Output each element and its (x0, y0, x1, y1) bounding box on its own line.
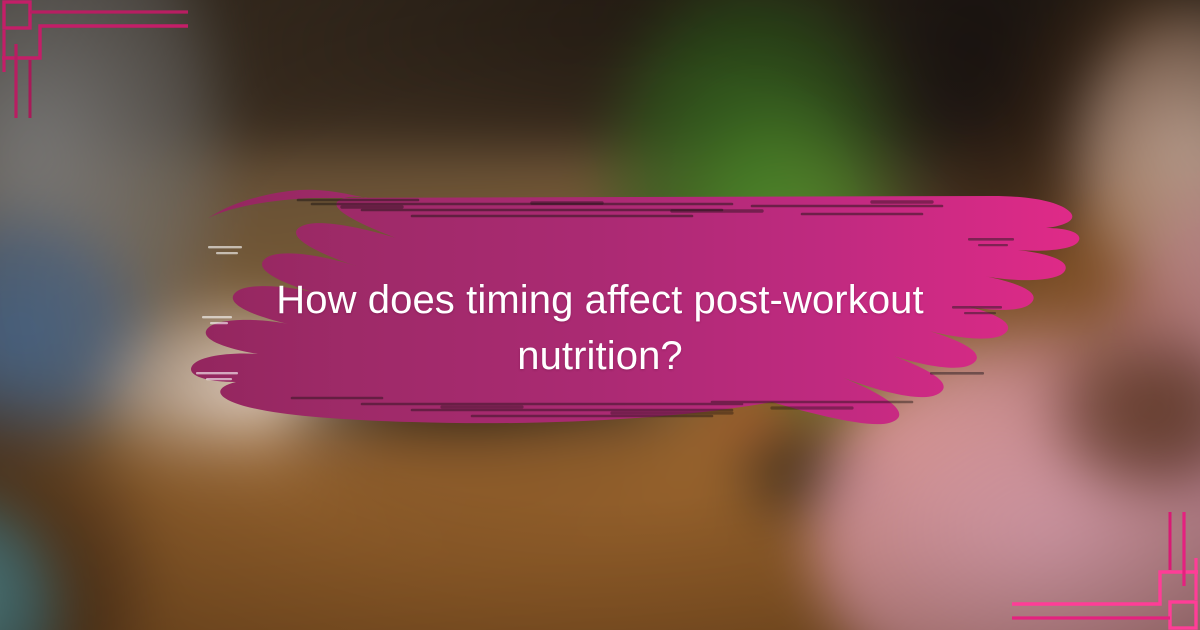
headline-line-2: nutrition? (517, 334, 683, 378)
page-title: How does timing affect post-workout nutr… (0, 272, 1200, 384)
headline-line-1: How does timing affect post-workout (276, 278, 924, 322)
share-card: How does timing affect post-workout nutr… (0, 0, 1200, 630)
